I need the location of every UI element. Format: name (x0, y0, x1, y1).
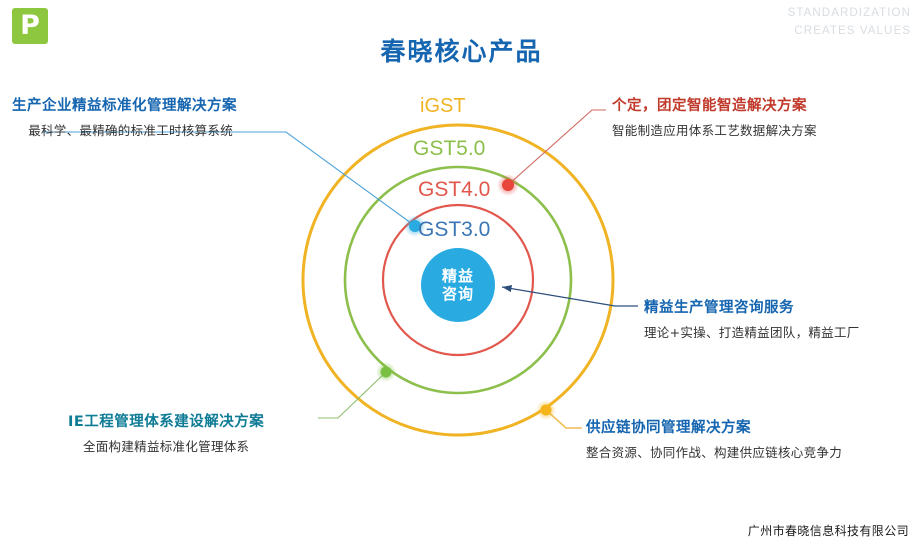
center-label-line-2: 咨询 (442, 285, 474, 303)
ring-label-gst4: GST4.0 (418, 178, 490, 202)
callout-top-left: 生产企业精益标准化管理解决方案 最科学、最精确的标准工时核算系统 (12, 94, 237, 139)
center-label-line-1: 精益 (442, 267, 474, 285)
ring-label-gst3: GST3.0 (418, 218, 490, 242)
callout-top-right-title: 个定，团定智能智造解决方案 (612, 94, 817, 115)
node-red[interactable] (502, 179, 514, 191)
ring-label-igst: iGST (420, 95, 466, 118)
callout-bottom-left-subtitle: 全面构建精益标准化管理体系 (68, 436, 264, 455)
slide-canvas: P STANDARDIZATION CREATES VALUES 春晓核心产品 (0, 0, 923, 549)
callout-bottom-right-subtitle: 整合资源、协同作战、构建供应链核心竞争力 (586, 442, 842, 461)
callout-bottom-right-title: 供应链协同管理解决方案 (586, 416, 842, 437)
callout-top-right: 个定，团定智能智造解决方案 智能制造应用体系工艺数据解决方案 (612, 94, 817, 139)
callout-middle-right-subtitle: 理论+实操、打造精益团队，精益工厂 (644, 322, 860, 341)
callout-top-right-subtitle: 智能制造应用体系工艺数据解决方案 (612, 120, 817, 139)
callout-top-left-subtitle: 最科学、最精确的标准工时核算系统 (12, 120, 237, 139)
callout-middle-right: 精益生产管理咨询服务 理论+实操、打造精益团队，精益工厂 (644, 296, 860, 341)
callout-top-left-title: 生产企业精益标准化管理解决方案 (12, 94, 237, 115)
ring-label-gst5: GST5.0 (413, 137, 485, 161)
node-green[interactable] (381, 367, 392, 378)
callout-bottom-left-title: IE工程管理体系建设解决方案 (68, 410, 264, 431)
callout-middle-right-title: 精益生产管理咨询服务 (644, 296, 860, 317)
connector-top-left (42, 132, 415, 226)
connector-top-right (508, 110, 606, 185)
node-yellow[interactable] (541, 405, 552, 416)
footer-company-name: 广州市春晓信息科技有限公司 (748, 522, 909, 539)
callout-bottom-left: IE工程管理体系建设解决方案 全面构建精益标准化管理体系 (68, 410, 264, 455)
center-node-lean-consulting[interactable]: 精益 咨询 (421, 248, 495, 322)
callout-bottom-right: 供应链协同管理解决方案 整合资源、协同作战、构建供应链核心竞争力 (586, 416, 842, 461)
